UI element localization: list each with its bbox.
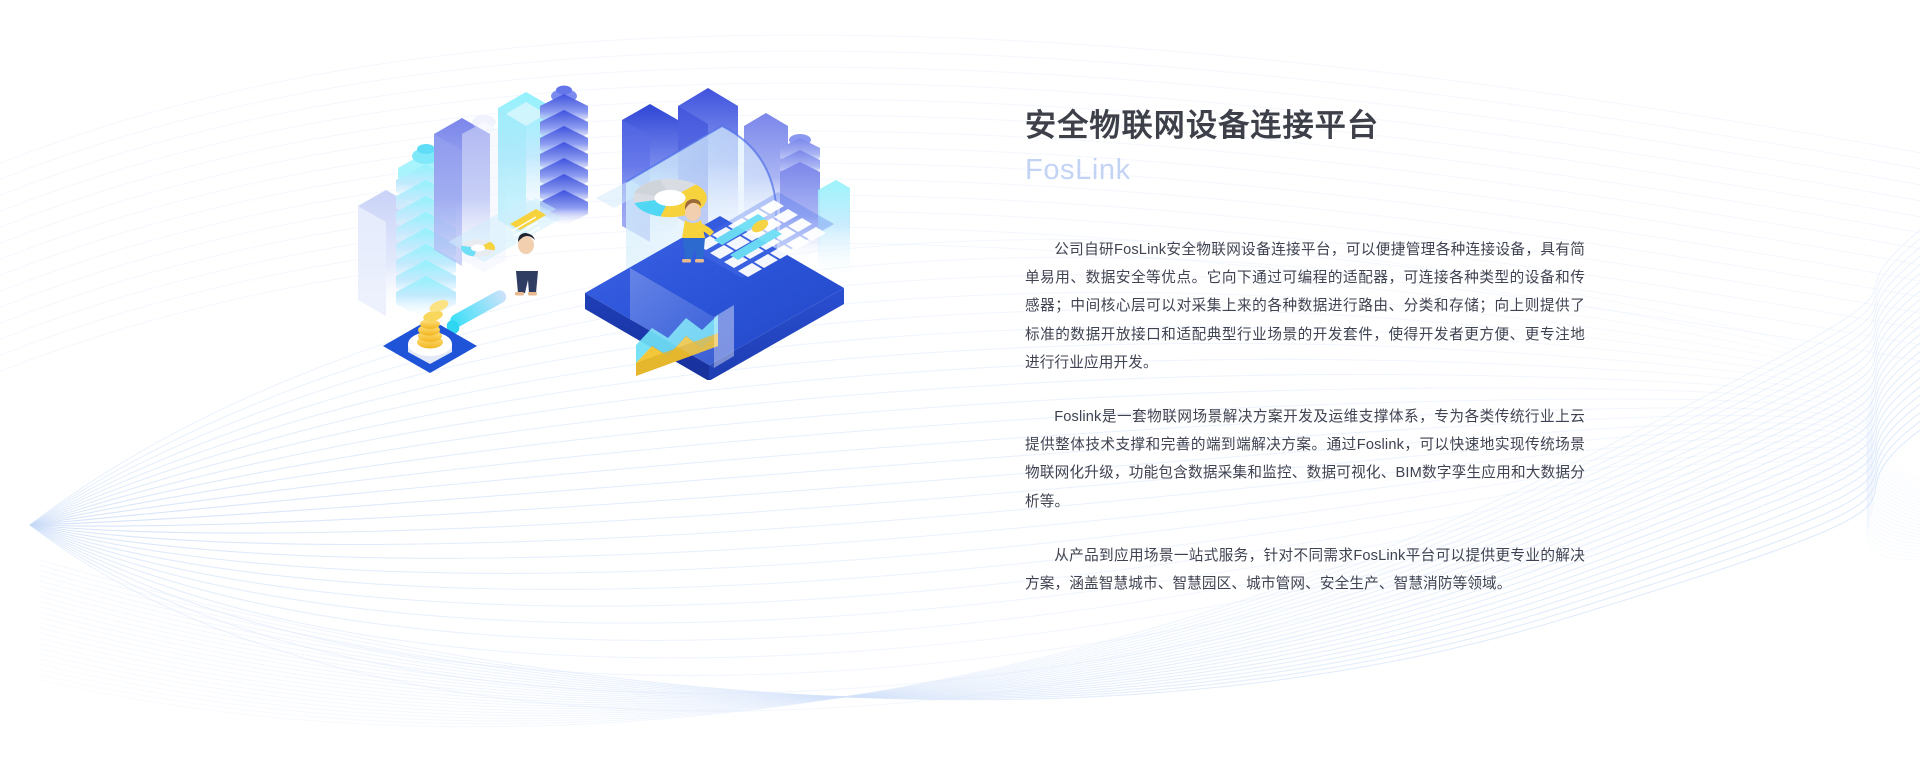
description-block: 公司自研FosLink安全物联网设备连接平台，可以便捷管理各种连接设备，具有简单… (1025, 236, 1585, 598)
content-column: 安全物联网设备连接平台 FosLink 公司自研FosLink安全物联网设备连接… (1025, 104, 1585, 598)
page-root: 安全物联网设备连接平台 FosLink 公司自研FosLink安全物联网设备连接… (0, 0, 1920, 760)
page-title: 安全物联网设备连接平台 (1025, 104, 1585, 148)
person-white-shirt (515, 233, 546, 296)
page-subtitle: FosLink (1025, 150, 1585, 190)
background-wave-decoration (0, 0, 1920, 760)
isometric-platform-illustration (330, 50, 850, 380)
paragraph-3: 从产品到应用场景一站式服务，针对不同需求FosLink平台可以提供更专业的解决方… (1025, 542, 1585, 598)
paragraph-1: 公司自研FosLink安全物联网设备连接平台，可以便捷管理各种连接设备，具有简单… (1025, 236, 1585, 377)
paragraph-2: Foslink是一套物联网场景解决方案开发及运维支撑体系，专为各类传统行业上云提… (1025, 403, 1585, 516)
